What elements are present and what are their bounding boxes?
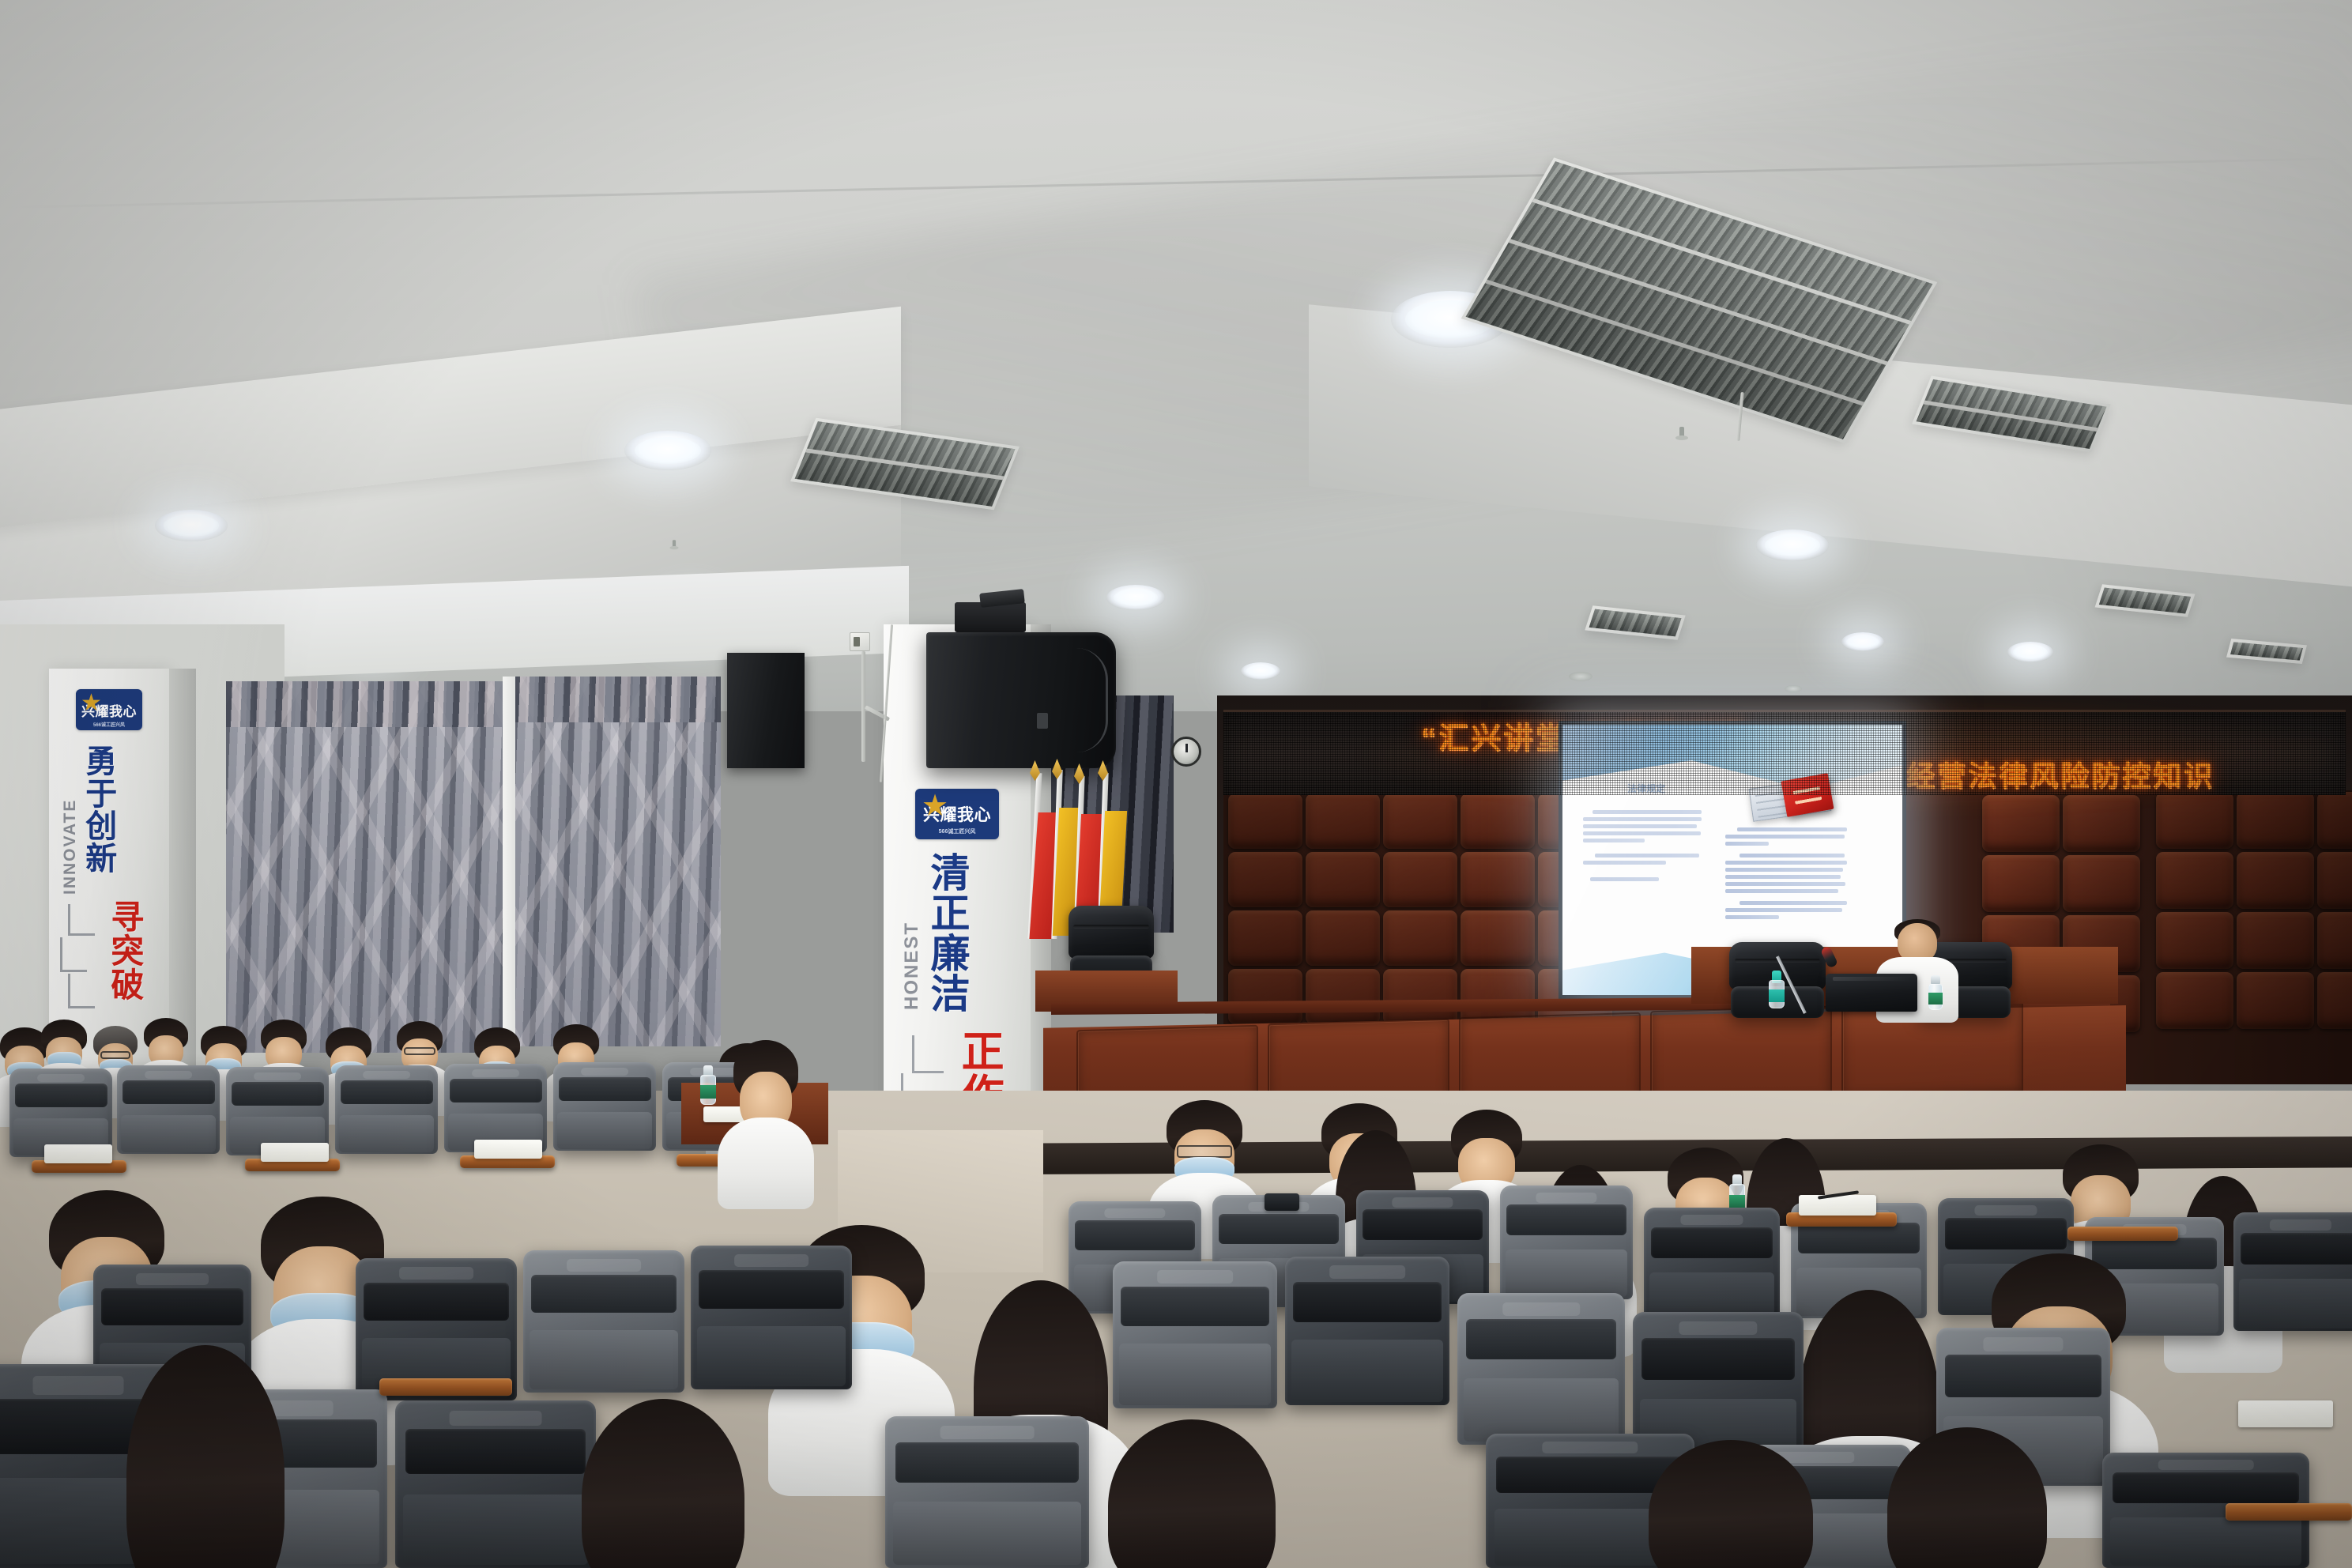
glasses-icon (404, 1047, 435, 1055)
notepad[interactable] (261, 1143, 329, 1162)
audience-person (1887, 1427, 2047, 1568)
recessed-downlight (2007, 642, 2053, 662)
curtain-left (226, 681, 503, 1053)
auditorium-seat[interactable] (1285, 1257, 1449, 1405)
auditorium-seat[interactable] (691, 1246, 852, 1389)
curtain-right (514, 677, 721, 1046)
glasses-icon (1177, 1145, 1231, 1158)
notepad[interactable] (1799, 1195, 1876, 1216)
auditorium-seat[interactable] (1644, 1208, 1780, 1323)
audience-person (126, 1345, 285, 1568)
audience-person (1108, 1419, 1276, 1568)
recessed-downlight (1841, 632, 1884, 651)
wall-speaker-small (727, 653, 805, 768)
slide-paragraph-right (1725, 827, 1847, 919)
audience-person (1649, 1440, 1813, 1568)
presenter-water-bottle (1769, 971, 1785, 1008)
audience-person (582, 1399, 744, 1568)
slide-decor-top (1562, 725, 1902, 790)
wall-clock (1171, 737, 1201, 767)
presenter-microphone (1804, 950, 1851, 1013)
recessed-downlight (1756, 530, 1829, 561)
auditorium-seat[interactable] (335, 1065, 438, 1154)
pillar-left-zigzag (68, 904, 95, 936)
logo-text-sub: 566诚工匠兴风 (93, 721, 125, 728)
auditorium-seat[interactable] (117, 1065, 220, 1154)
auditorium-seat[interactable] (885, 1416, 1089, 1568)
slide-paragraph-left (1583, 810, 1702, 881)
writing-tablet[interactable] (2226, 1503, 2352, 1521)
auditorium-seat[interactable] (1113, 1261, 1277, 1408)
presenter-water-bottle (1928, 975, 1943, 1010)
smoke-detector (1785, 685, 1802, 692)
auditorium-seat[interactable] (2233, 1212, 2352, 1331)
company-logo-badge: ★ 兴耀我心 566诚工匠兴风 (76, 689, 142, 730)
auditorium-seat[interactable] (1500, 1185, 1633, 1299)
auditorium-seat[interactable] (1457, 1293, 1625, 1445)
curtain-header (226, 681, 503, 727)
company-logo-badge: ★ 兴耀我心 566诚工匠兴风 (915, 789, 999, 839)
notepad[interactable] (474, 1140, 542, 1159)
stage-desk-panel (1650, 1006, 1832, 1104)
notepad[interactable] (44, 1144, 112, 1163)
pillar-center-english: HONEST (903, 852, 922, 1010)
logo-text-sub: 566诚工匠兴风 (939, 827, 976, 835)
pillar-left-line-red: 寻突破 (107, 899, 141, 1001)
pillar-left-line-blue: 勇于创新 (81, 744, 114, 874)
conference-room-scene: ★ 兴耀我心 566诚工匠兴风 INNOVATE 勇于创新 寻突破 ★ 兴耀我心… (0, 0, 2352, 1568)
glasses-icon (100, 1051, 130, 1059)
slide-title: 法律规定 (1627, 782, 1665, 795)
pillar-left-zigzag (60, 937, 87, 972)
pillar-left-english: INNOVATE (62, 744, 78, 895)
writing-tablet[interactable] (379, 1378, 512, 1396)
speaker-mount-bracket (955, 602, 1026, 632)
smartphone[interactable] (1265, 1193, 1299, 1211)
water-bottle (700, 1065, 716, 1105)
pillar-center-zigzag (912, 1035, 944, 1073)
writing-tablet[interactable] (2067, 1227, 2178, 1241)
recessed-downlight (1106, 585, 1165, 610)
pillar-center-line-blue: 清正廉洁 (926, 852, 967, 1013)
pillar-left-zigzag (68, 974, 95, 1008)
speaker-brand-badge (1037, 713, 1048, 729)
audience-person (733, 1040, 798, 1144)
wall-switch-plate[interactable] (850, 632, 870, 651)
law-book-image (1751, 774, 1833, 826)
speaker-grille-curve (1059, 648, 1108, 752)
smoke-detector (1569, 672, 1592, 681)
star-icon: ★ (81, 692, 102, 715)
auditorium-seat[interactable] (395, 1400, 596, 1568)
fire-sprinkler (1675, 427, 1688, 444)
notepad[interactable] (2238, 1400, 2333, 1427)
window-left (226, 681, 503, 1053)
auditorium-seat[interactable] (523, 1250, 684, 1393)
window-right (514, 677, 721, 1046)
curtain-header (514, 677, 721, 722)
auditorium-seat[interactable] (553, 1062, 656, 1151)
recessed-downlight (1241, 662, 1280, 680)
recessed-downlight (624, 431, 711, 470)
window-mullion (503, 677, 515, 1048)
fire-sprinkler (669, 540, 678, 552)
star-icon: ★ (922, 791, 948, 821)
recessed-downlight (155, 510, 228, 541)
audience-person (1167, 1100, 1242, 1198)
